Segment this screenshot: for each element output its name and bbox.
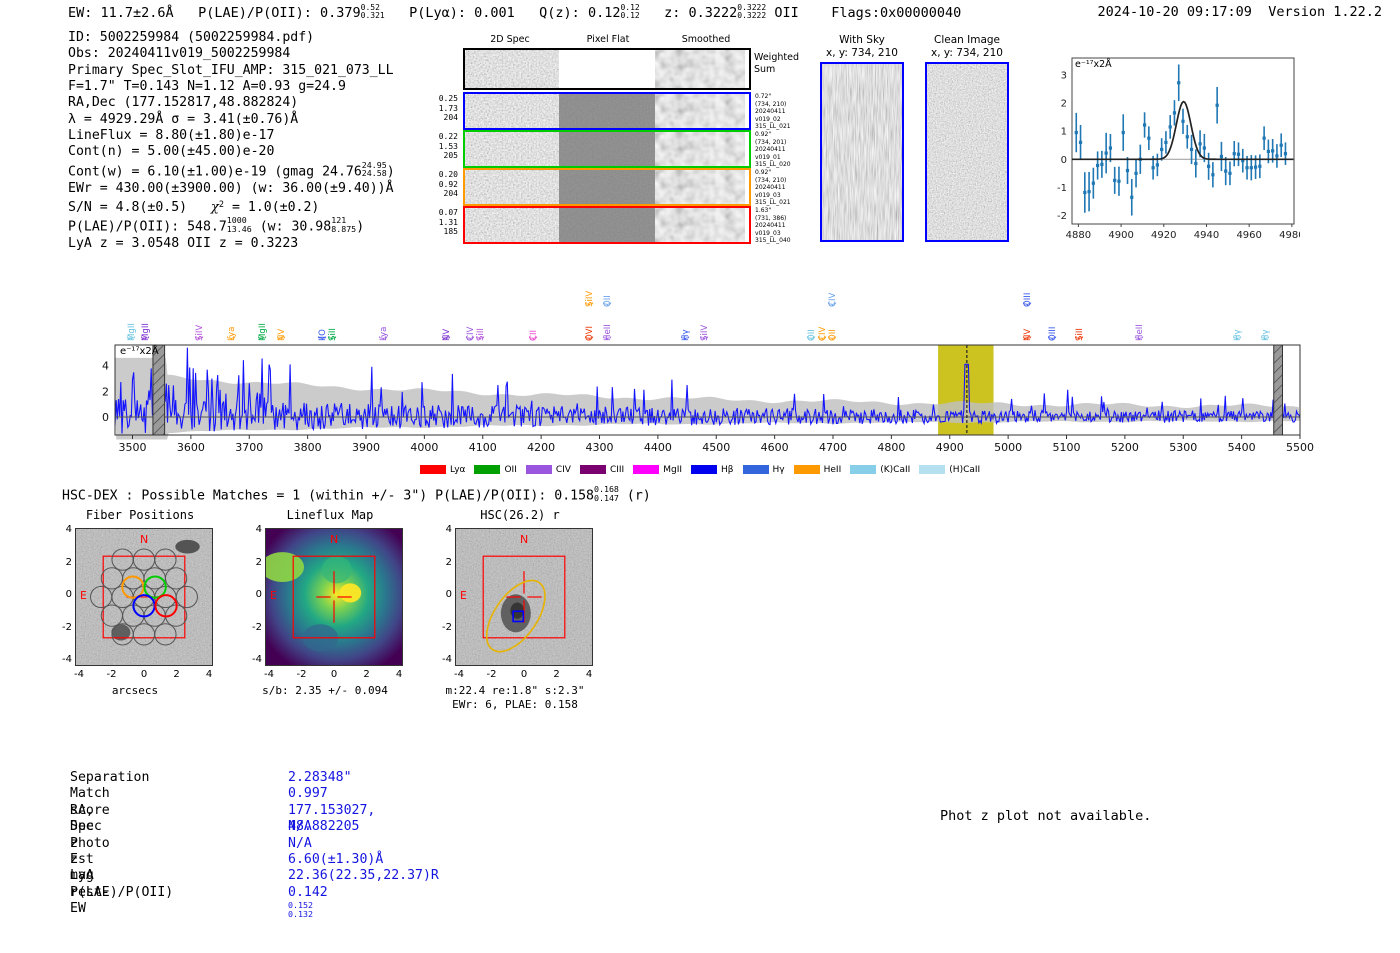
legend-item: Hβ (691, 465, 734, 475)
info-cont-w-pre: Cont(w) = 6.10(±1.00)e-19 (gmag 24.76 (68, 164, 362, 179)
svg-text:1: 1 (1061, 127, 1067, 138)
fiber-meta-line: (731, 386) (755, 215, 791, 223)
svg-text:4200: 4200 (527, 441, 555, 454)
fiber-stat-value: 1.53 (430, 142, 458, 152)
panel-x-tick: 0 (132, 669, 156, 680)
emission-line-label: SiIV (585, 291, 595, 307)
imaging-panel: Lineflux MapNE-4-2024-4-2024s/b: 2.35 +/… (230, 508, 420, 698)
fiber-panel-list: 0.251.732040.72"(734, 210)20240411v019_0… (430, 92, 760, 244)
legend-item: OII (474, 465, 516, 475)
legend-swatch (794, 465, 820, 474)
panel-x-tick: 4 (387, 669, 411, 680)
match-table-key: P(LAE)/P(OII) (70, 885, 173, 901)
fiber-stat-value: 204 (430, 113, 458, 123)
info-plae-w-range: 1218.875 (331, 216, 356, 233)
emission-line-label: SiII (476, 328, 486, 341)
svg-text:4940: 4940 (1194, 230, 1219, 241)
legend-item: CIV (526, 465, 571, 475)
line-fit-plot: -2-10123488049004920494049604980e⁻¹⁷x2Å (1038, 50, 1300, 248)
imaging-panel: HSC(26.2) rNE-4-2024-4-2024m:22.4 re:1.8… (420, 508, 610, 698)
emission-line-label: CIV (466, 327, 476, 341)
legend-label: Hγ (773, 465, 785, 475)
emission-line-label: SiII (1075, 328, 1085, 341)
match-table-value: 22.36(22.35,22.37)R (288, 868, 439, 884)
cutout-withsky-sub: x, y: 734, 210 (820, 47, 904, 60)
fiber-meta-line: 0.92" (755, 169, 791, 177)
fiber-panel-row: 0.200.922040.92"(734, 210)20240411v019_0… (430, 168, 760, 206)
fiber-meta-line: 0.92" (755, 131, 791, 139)
fiber-panel-image (463, 130, 751, 168)
legend-swatch (580, 465, 606, 474)
fiber-stat-value: 0.07 (430, 208, 458, 218)
svg-text:4900: 4900 (936, 441, 964, 454)
match-table-value-text: N/A (288, 836, 312, 851)
panel-x-tick: -4 (447, 669, 471, 680)
svg-text:5400: 5400 (1228, 441, 1256, 454)
svg-text:4: 4 (102, 360, 109, 373)
fiber-panel-stats: 0.221.53205 (430, 132, 458, 161)
hscdex-post: (r) (627, 489, 651, 504)
match-table-value-text: N/A (288, 819, 312, 834)
svg-text:5500: 5500 (1286, 441, 1314, 454)
emission-line-label: OII (807, 329, 817, 341)
fiber-meta-line: (734, 201) (755, 139, 791, 147)
info-ewr: EWr = 430.00(±3900.00) (w: 36.00(±9.40))… (68, 181, 395, 197)
fiber-meta-line: 315_LL_040 (755, 237, 791, 245)
col-header-2dspec: 2D Spec (462, 34, 558, 45)
info-redshifts: LyA z = 3.0548 OII z = 0.3223 (68, 236, 395, 252)
match-table-value-text: 6.60(±1.30)Å (288, 852, 383, 867)
svg-text:5300: 5300 (1169, 441, 1197, 454)
header-z: z: 0.3222 (664, 5, 737, 21)
fiber-stat-value: 0.20 (430, 170, 458, 180)
svg-text:0: 0 (1061, 155, 1067, 166)
legend-label: Lyα (450, 465, 465, 475)
header-plae-range: 0.520.321 (361, 4, 385, 20)
emission-line-label: NV (277, 329, 287, 341)
info-radec: RA,Dec (177.152817,48.882824) (68, 95, 395, 111)
panel-y-tick: -2 (48, 622, 72, 633)
match-table-plae-range: 0.1520.132 (288, 901, 313, 918)
svg-text:4920: 4920 (1151, 230, 1176, 241)
svg-text:4900: 4900 (1108, 230, 1133, 241)
fiber-panel-stats: 0.071.31185 (430, 208, 458, 237)
cutout-withsky-title: With Sky (820, 34, 904, 47)
match-table-value-text: 0.997 (288, 786, 328, 801)
emission-line-label: IIO (318, 329, 328, 341)
svg-text:4880: 4880 (1066, 230, 1091, 241)
legend-item: (K)CaII (850, 465, 910, 475)
svg-text:3600: 3600 (177, 441, 205, 454)
match-table-value: N/A (288, 819, 312, 835)
svg-text:-1: -1 (1057, 183, 1067, 194)
weighted-sum-label: Weighted Sum (754, 52, 799, 75)
compass-east-label: E (270, 589, 277, 602)
imaging-panel-title: HSC(26.2) r (440, 508, 600, 522)
svg-text:5200: 5200 (1111, 441, 1139, 454)
svg-text:2: 2 (102, 385, 109, 398)
fiber-meta-line: (734, 210) (755, 101, 791, 109)
hscdex-pre: HSC-DEX : Possible Matches = 1 (within +… (62, 489, 594, 504)
legend-item: CIII (580, 465, 624, 475)
info-sn-chi2: S/N = 4.8(±0.5) χ2 = 1.0(±0.2) (68, 197, 395, 216)
imaging-panel-title: Lineflux Map (250, 508, 410, 522)
header-plae-label: P(LAE)/P(OII): 0.379 (198, 5, 361, 21)
emission-line-label: Lya (379, 327, 389, 341)
panel-y-tick: 0 (48, 589, 72, 600)
timestamp: 2024-10-20 09:17:09 (1098, 4, 1252, 20)
svg-text:4800: 4800 (877, 441, 905, 454)
chi-exponent: 2 (219, 200, 224, 210)
panel-y-tick: 2 (48, 557, 72, 568)
panel-y-tick: 4 (48, 524, 72, 535)
fiber-stat-value: 1.31 (430, 218, 458, 228)
emission-line-label: SiIV (195, 325, 205, 341)
fiber-panel-row: 0.221.532050.92"(734, 201)20240411v019_0… (430, 130, 760, 168)
emission-line-label: Lya (227, 327, 237, 341)
info-cont-w-post: ) (387, 164, 395, 179)
panel-x-tick: -2 (100, 669, 124, 680)
info-plae-post: ) (356, 220, 364, 235)
fiber-stat-value: 0.25 (430, 94, 458, 104)
info-lambda-sigma: λ = 4929.29Å σ = 3.41(±0.76)Å (68, 112, 395, 128)
legend-item: Hγ (743, 465, 785, 475)
match-table-value: 2.28348" (288, 770, 352, 786)
cutout-clean-image: Clean Image x, y: 734, 210 (925, 34, 1009, 242)
legend-label: MgII (663, 465, 682, 475)
col-header-pixelflat: Pixel Flat (560, 34, 656, 45)
panel-x-tick: 2 (165, 669, 189, 680)
emission-line-label: SiII (328, 328, 338, 341)
header-timestamp-version: 2024-10-20 09:17:09 Version 1.22.2 (1098, 4, 1383, 20)
svg-text:3: 3 (1061, 70, 1067, 81)
legend-swatch (743, 465, 769, 474)
svg-text:5000: 5000 (994, 441, 1022, 454)
emission-line-label: NV (442, 329, 452, 341)
panel-y-tick: 4 (428, 524, 452, 535)
fiber-panel-meta: 0.92"(734, 201)20240411v019_01315_LL_020 (755, 131, 791, 169)
fiber-meta-line: v019_03 (755, 230, 791, 238)
panel-y-tick: 0 (238, 589, 262, 600)
legend-item: (H)CaII (919, 465, 980, 475)
svg-text:4500: 4500 (702, 441, 730, 454)
panel-x-tick: -4 (257, 669, 281, 680)
match-table-value-text: 0.142 (288, 885, 328, 900)
panel-x-tick: 0 (322, 669, 346, 680)
header-qz: Q(z): 0.12 (539, 5, 620, 21)
legend-label: OII (504, 465, 516, 475)
match-table-value-text: 22.36(22.35,22.37)R (288, 868, 439, 883)
header-z-type: OII (774, 5, 798, 21)
legend-swatch (919, 465, 945, 474)
info-lineflux: LineFlux = 8.80(±1.80)e-17 (68, 128, 395, 144)
match-table-value: N/A (288, 836, 312, 852)
svg-text:4600: 4600 (761, 441, 789, 454)
legend-swatch (633, 465, 659, 474)
panel-x-label: arcsecs (40, 684, 230, 697)
hscdex-summary: HSC-DEX : Possible Matches = 1 (within +… (62, 485, 651, 504)
compass-east-label: E (460, 589, 467, 602)
svg-text:4400: 4400 (644, 441, 672, 454)
fiber-meta-line: 20240411 (755, 108, 791, 116)
fiber-meta-line: 20240411 (755, 146, 791, 154)
panel-x-tick: 4 (577, 669, 601, 680)
header-summary-line: EW: 11.7±2.6Å P(LAE)/P(OII): 0.3790.520.… (68, 4, 961, 21)
spec2d-montage: 2D Spec Pixel Flat Smoothed (462, 34, 752, 48)
panel-x-tick: 4 (197, 669, 221, 680)
emission-line-label: HeII (1135, 324, 1145, 341)
fiber-panel-meta: 0.92"(734, 210)20240411v019_03315_LL_021 (755, 169, 791, 207)
emission-line-label: CII (529, 330, 539, 341)
svg-text:4300: 4300 (586, 441, 614, 454)
panel-y-tick: 0 (428, 589, 452, 600)
svg-text:3800: 3800 (294, 441, 322, 454)
weighted-sum-row (463, 48, 751, 90)
svg-text:4000: 4000 (410, 441, 438, 454)
legend-label: (H)CaII (949, 465, 980, 475)
panel-x-tick: -2 (290, 669, 314, 680)
spectrum-flux-unit: e⁻¹⁷x2Å (120, 346, 159, 357)
svg-text:4100: 4100 (469, 441, 497, 454)
fiber-stat-value: 185 (430, 227, 458, 237)
info-gmag-range: 24.9524.58 (362, 161, 387, 178)
legend-swatch (474, 465, 500, 474)
legend-item: HeII (794, 465, 842, 475)
info-plae-range: 100013.46 (227, 216, 252, 233)
match-table-key: mag (70, 868, 94, 884)
bottom-imaging-panels: Fiber PositionsNE-4-2024-4-2024arcsecsLi… (40, 508, 660, 748)
legend-label: CIV (556, 465, 571, 475)
panel-x-tick: -2 (480, 669, 504, 680)
match-table-value: 0.997 (288, 786, 328, 802)
emission-line-label: OII (603, 295, 613, 307)
header-ew: EW: 11.7±2.6Å (68, 5, 174, 21)
legend-label: Hβ (721, 465, 734, 475)
fiber-panel-image (463, 168, 751, 206)
legend-swatch (691, 465, 717, 474)
emission-line-label: SiIV (700, 325, 710, 341)
emission-line-label: OII (828, 329, 838, 341)
chi-symbol: χ (211, 200, 219, 215)
fiber-meta-line: v019_02 (755, 116, 791, 124)
info-id: ID: 5002259984 (5002259984.pdf) (68, 30, 395, 46)
info-seeing: F=1.7" T=0.143 N=1.12 A=0.93 g=24.9 (68, 79, 395, 95)
emission-line-label: Hγ (1261, 329, 1271, 341)
panel-y-tick: -2 (428, 622, 452, 633)
compass-north-label: N (140, 533, 148, 546)
legend-label: CIII (610, 465, 624, 475)
emission-line-label: NV (1023, 329, 1033, 341)
svg-text:4700: 4700 (819, 441, 847, 454)
fiber-meta-line: (734, 210) (755, 177, 791, 185)
imaging-panel: Fiber PositionsNE-4-2024-4-2024arcsecs (40, 508, 230, 698)
fiber-panel-stats: 0.200.92204 (430, 170, 458, 199)
fiber-panel-image (463, 206, 751, 244)
svg-text:4980: 4980 (1279, 230, 1300, 241)
svg-text:2: 2 (1061, 99, 1067, 110)
fiber-panel-row: 0.071.311851.63"(731, 386)20240411v019_0… (430, 206, 760, 244)
info-sn: S/N = 4.8(±0.5) (68, 200, 187, 215)
photz-note: Phot z plot not available. (940, 808, 1151, 824)
spectrum-legend: LyαOIICIVCIIIMgIIHβHγHeII(K)CaII(H)CaII (420, 459, 989, 478)
fiber-stat-value: 204 (430, 189, 458, 199)
emission-line-label: OVI (585, 326, 595, 341)
fiber-stat-value: 1.73 (430, 104, 458, 114)
emission-line-label: MgII (141, 323, 151, 341)
fiber-panel-meta: 0.72"(734, 210)20240411v019_02315_LL_021 (755, 93, 791, 131)
panel-y-tick: 4 (238, 524, 262, 535)
legend-swatch (850, 465, 876, 474)
panel-x-tick: 2 (355, 669, 379, 680)
panel-x-label-2: EWr: 6, PLAE: 0.158 (420, 698, 610, 711)
fiber-meta-line: 1.63" (755, 207, 791, 215)
legend-label: (K)CaII (880, 465, 910, 475)
fiber-meta-line: 315_LL_021 (755, 123, 791, 131)
panel-y-tick: -4 (428, 654, 452, 665)
match-table-value-text: 2.28348" (288, 770, 352, 785)
legend-item: Lyα (420, 465, 465, 475)
header-z-range: 0.32220.3222 (737, 4, 766, 20)
emission-line-label: MgII (258, 323, 268, 341)
info-obs: Obs: 20240411v019_5002259984 (68, 46, 395, 62)
panel-y-tick: 2 (428, 557, 452, 568)
imaging-panel-image (455, 528, 593, 666)
legend-swatch (420, 465, 446, 474)
version: Version 1.22.2 (1268, 4, 1382, 20)
emission-line-label: Hγ (1233, 329, 1243, 341)
panel-x-tick: -4 (67, 669, 91, 680)
panel-x-label: s/b: 2.35 +/- 0.094 (230, 684, 420, 697)
fiber-meta-line: v019_01 (755, 154, 791, 162)
svg-text:-2: -2 (1057, 211, 1067, 222)
fiber-stat-value: 0.92 (430, 180, 458, 190)
cutout-clean-title: Clean Image (925, 34, 1009, 47)
cutout-with-sky: With Sky x, y: 734, 210 (820, 34, 904, 242)
emission-line-label: Hγ (681, 329, 691, 341)
imaging-panel-image (265, 528, 403, 666)
fiber-panel-row: 0.251.732040.72"(734, 210)20240411v019_0… (430, 92, 760, 130)
panel-y-tick: -2 (238, 622, 262, 633)
emission-line-label: CIV (818, 327, 828, 341)
svg-text:5100: 5100 (1053, 441, 1081, 454)
panel-y-tick: 2 (238, 557, 262, 568)
source-info-block: ID: 5002259984 (5002259984.pdf) Obs: 202… (68, 30, 395, 253)
hscdex-plae-range: 0.1680.147 (594, 485, 619, 502)
compass-north-label: N (520, 533, 528, 546)
fiber-panel-stats: 0.251.73204 (430, 94, 458, 123)
info-cont-w: Cont(w) = 6.10(±1.00)e-19 (gmag 24.7624.… (68, 161, 395, 181)
svg-text:3700: 3700 (235, 441, 263, 454)
weighted-sum-image (465, 50, 749, 88)
col-header-smoothed: Smoothed (658, 34, 754, 45)
fiber-stat-value: 0.22 (430, 132, 458, 142)
fitplot-flux-unit: e⁻¹⁷x2Å (1075, 59, 1112, 70)
panel-y-tick: -4 (238, 654, 262, 665)
emission-line-label: OIII (1023, 293, 1033, 307)
match-table-value: 0.1420.1520.132 (288, 885, 328, 921)
svg-text:4960: 4960 (1236, 230, 1261, 241)
svg-text:0: 0 (102, 411, 109, 424)
fiber-meta-line: v019_03 (755, 192, 791, 200)
fiber-meta-line: 315_LL_020 (755, 161, 791, 169)
panel-y-tick: -4 (48, 654, 72, 665)
info-cont-n: Cont(n) = 5.00(±45.00)e-20 (68, 144, 395, 160)
compass-north-label: N (330, 533, 338, 546)
imaging-panel-title: Fiber Positions (60, 508, 220, 522)
info-plae: P(LAE)/P(OII): 548.7100013.46 (w: 30.981… (68, 216, 395, 236)
svg-text:3900: 3900 (352, 441, 380, 454)
emission-line-label: HeII (603, 324, 613, 341)
legend-label: HeII (824, 465, 842, 475)
header-flags: Flags:0x00000040 (831, 5, 961, 21)
fiber-stat-value: 205 (430, 151, 458, 161)
imaging-panel-image (75, 528, 213, 666)
legend-item: MgII (633, 465, 682, 475)
info-primary-spec: Primary Spec_Slot_IFU_AMP: 315_021_073_L… (68, 63, 395, 79)
full-spectrum-plot: 0243500360037003800390040004100420043004… (60, 270, 1350, 475)
fiber-meta-line: 315_LL_021 (755, 199, 791, 207)
emission-line-label: MgII (127, 323, 137, 341)
svg-text:3500: 3500 (119, 441, 147, 454)
panel-x-tick: 2 (545, 669, 569, 680)
panel-x-tick: 0 (512, 669, 536, 680)
match-table-value: 6.60(±1.30)Å (288, 852, 383, 868)
compass-east-label: E (80, 589, 87, 602)
match-table-key: Separation (70, 770, 149, 786)
fiber-panel-image (463, 92, 751, 130)
fiber-meta-line: 0.72" (755, 93, 791, 101)
info-plae-pre: P(LAE)/P(OII): 548.7 (68, 220, 227, 235)
fiber-panel-meta: 1.63"(731, 386)20240411v019_03315_LL_040 (755, 207, 791, 245)
info-chi2: = 1.0(±0.2) (232, 200, 319, 215)
emission-line-label: OIII (1048, 327, 1058, 341)
cutout-clean-sub: x, y: 734, 210 (925, 47, 1009, 60)
legend-swatch (526, 465, 552, 474)
header-plya: P(Lyα): 0.001 (409, 5, 515, 21)
fiber-meta-line: 20240411 (755, 184, 791, 192)
info-plae-mid: (w: 30.98 (260, 220, 331, 235)
panel-x-label: m:22.4 re:1.8" s:2.3" (420, 684, 610, 697)
emission-line-label: CIV (828, 293, 838, 307)
header-qz-range: 0.120.12 (620, 4, 639, 20)
fiber-meta-line: 20240411 (755, 222, 791, 230)
